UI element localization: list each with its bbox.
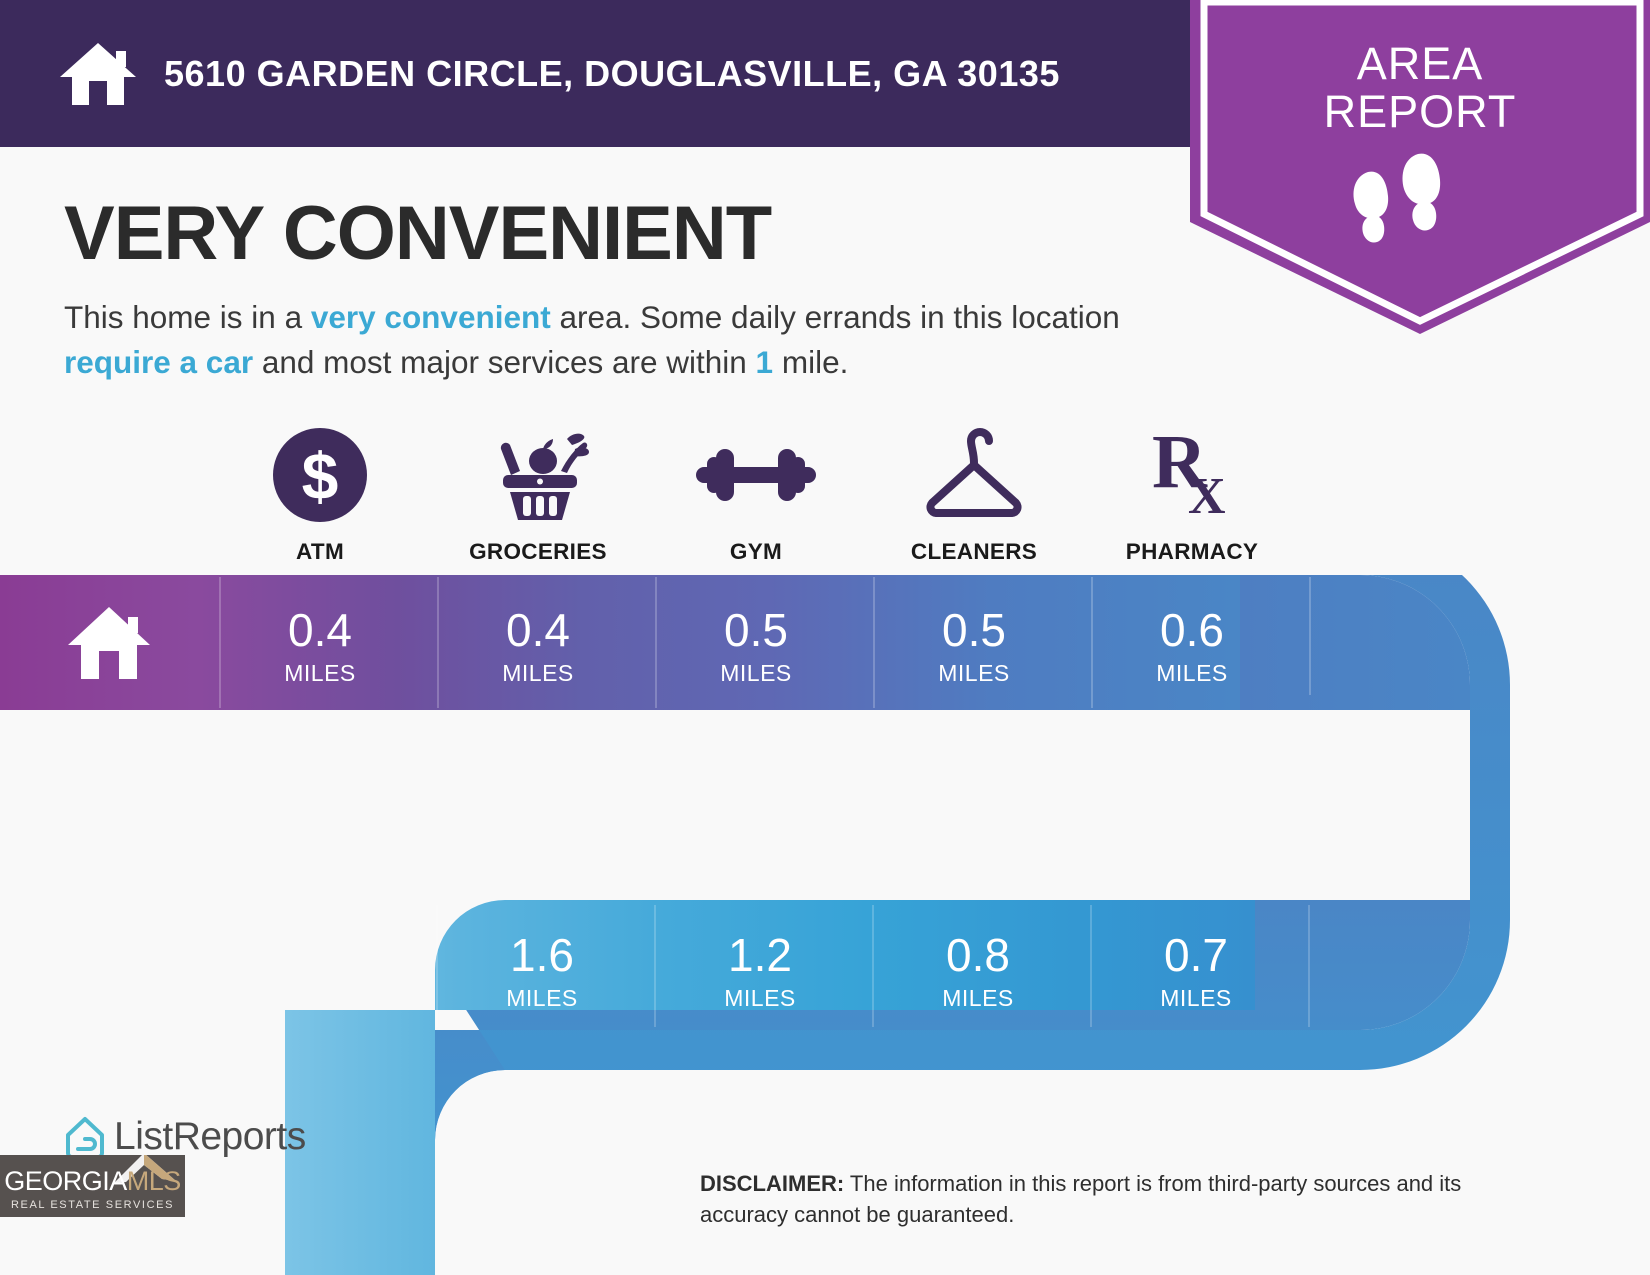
service-atm: $ ATM	[211, 425, 429, 565]
blurb-part-3: and most major services are within	[253, 344, 755, 380]
distance-medical: 0.8 MILES	[869, 932, 1087, 1012]
mls-primary: GEORGIA	[4, 1166, 127, 1196]
georgia-mls-watermark: GEORGIAMLS REAL ESTATE SERVICES	[0, 1155, 185, 1217]
home-icon	[66, 603, 152, 681]
service-label: PHARMACY	[1126, 539, 1258, 565]
distance-value: 0.7	[1087, 932, 1305, 978]
listreports-wordmark: ListReports	[114, 1115, 306, 1159]
disclaimer: DISCLAIMER: The information in this repo…	[700, 1168, 1520, 1230]
distance-value: 0.4	[429, 607, 647, 653]
distance-gas: 0.7 MILES	[1087, 932, 1305, 1012]
service-label: ATM	[296, 539, 344, 565]
blurb-part-1: This home is in a	[64, 299, 311, 335]
distance-unit: MILES	[433, 985, 651, 1012]
page-title: VERY CONVENIENT	[64, 190, 771, 277]
distance-cleaners: 0.5 MILES	[865, 607, 1083, 687]
mls-secondary: MLS	[127, 1166, 181, 1196]
rx-icon: R X	[1142, 425, 1242, 525]
distance-pharmacy: 0.6 MILES	[1083, 607, 1301, 687]
distance-unit: MILES	[211, 660, 429, 687]
listreports-house-icon	[64, 1115, 106, 1159]
distance-unit: MILES	[429, 660, 647, 687]
listreports-logo[interactable]: ListReports	[64, 1115, 306, 1159]
distance-unit: MILES	[1087, 985, 1305, 1012]
distance-value: 1.2	[651, 932, 869, 978]
service-label: GROCERIES	[469, 539, 607, 565]
property-address: 5610 GARDEN CIRCLE, DOUGLASVILLE, GA 301…	[164, 53, 1060, 95]
distance-unit: MILES	[647, 660, 865, 687]
grocery-basket-icon	[483, 425, 593, 525]
service-groceries: GROCERIES	[429, 425, 647, 565]
blurb-distance-number: 1	[756, 344, 774, 380]
blurb-highlight-2: require a car	[64, 344, 253, 380]
distance-value: 0.8	[869, 932, 1087, 978]
distance-value: 0.6	[1083, 607, 1301, 653]
mls-wordmark: GEORGIAMLS	[0, 1166, 185, 1197]
disclaimer-label: DISCLAIMER:	[700, 1171, 844, 1196]
distance-value: 0.5	[647, 607, 865, 653]
distance-movie-theater: 1.2 MILES	[651, 932, 869, 1012]
service-label: CLEANERS	[911, 539, 1037, 565]
distance-unit: MILES	[651, 985, 869, 1012]
distance-unit: MILES	[1083, 660, 1301, 687]
dumbbell-icon	[691, 425, 821, 525]
home-icon	[58, 39, 138, 109]
hanger-icon	[914, 425, 1034, 525]
service-cleaners: CLEANERS	[865, 425, 1083, 565]
distance-coffee: 1.6 MILES	[433, 932, 651, 1012]
summary-text: This home is in a very convenient area. …	[64, 295, 1124, 384]
distance-unit: MILES	[869, 985, 1087, 1012]
mls-tagline: REAL ESTATE SERVICES	[0, 1199, 185, 1211]
distance-gym: 0.5 MILES	[647, 607, 865, 687]
distance-value: 0.4	[211, 607, 429, 653]
blurb-part-2: area. Some daily errands in this locatio…	[551, 299, 1120, 335]
distance-atm: 0.4 MILES	[211, 607, 429, 687]
svg-text:$: $	[302, 439, 339, 513]
svg-text:X: X	[1188, 468, 1226, 525]
dollar-circle-icon: $	[270, 425, 370, 525]
services-icon-row-primary: $ ATM	[211, 425, 1301, 565]
blurb-highlight-1: very convenient	[311, 299, 551, 335]
service-label: GYM	[730, 539, 782, 565]
distance-value: 1.6	[433, 932, 651, 978]
service-pharmacy: R X PHARMACY	[1083, 425, 1301, 565]
distance-groceries: 0.4 MILES	[429, 607, 647, 687]
blurb-part-4: mile.	[773, 344, 848, 380]
home-marker	[0, 603, 218, 681]
area-report-badge: AREA REPORT	[1190, 0, 1650, 334]
distance-value: 0.5	[865, 607, 1083, 653]
service-gym: GYM	[647, 425, 865, 565]
distance-unit: MILES	[865, 660, 1083, 687]
